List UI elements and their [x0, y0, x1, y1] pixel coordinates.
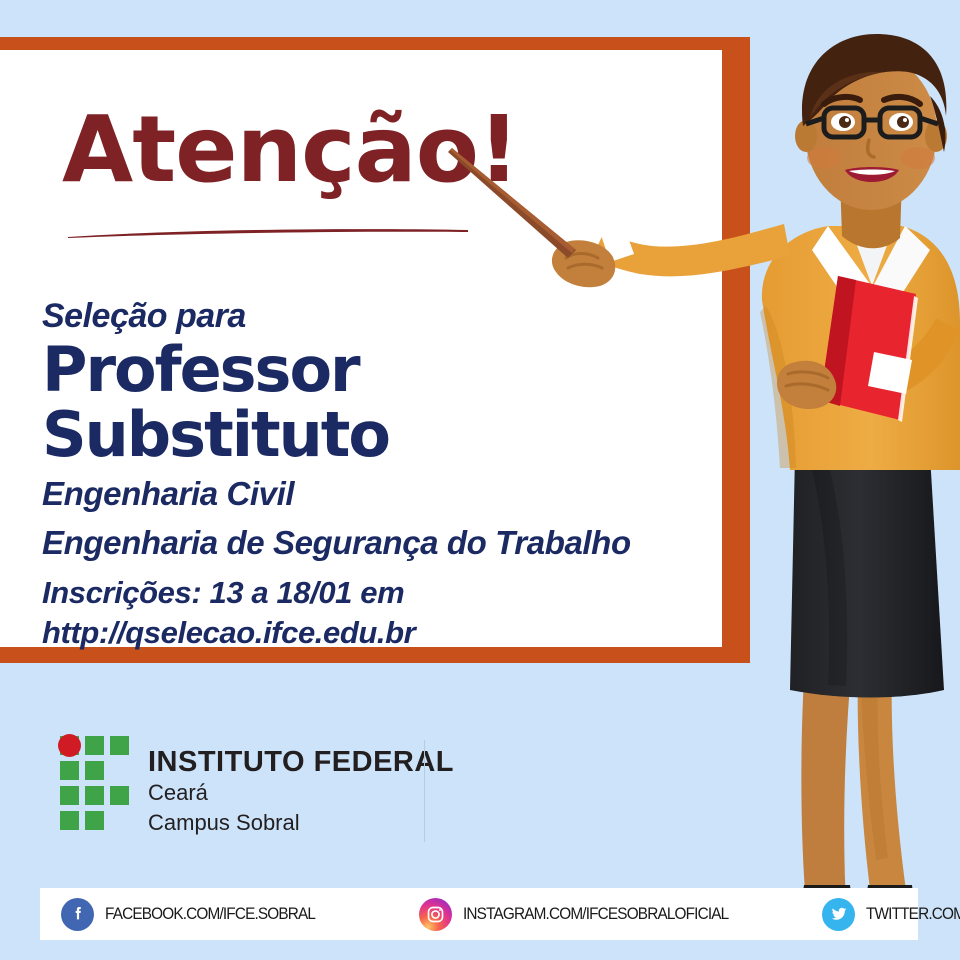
- logo-campus-name: Campus Sobral: [148, 810, 454, 837]
- position-title: Professor Substituto: [42, 337, 722, 467]
- social-label-facebook: FACEBOOK.COM/IFCE.SOBRAL: [105, 905, 315, 924]
- facebook-icon[interactable]: [61, 898, 94, 931]
- social-item-facebook[interactable]: FACEBOOK.COM/IFCE.SOBRAL: [61, 898, 331, 931]
- swoosh-rule-icon: [68, 228, 468, 238]
- poster-canvas: Atenção! Seleção para Professor Substitu…: [0, 0, 960, 960]
- course-item-1: Engenharia Civil: [42, 473, 722, 516]
- social-label-instagram: INSTAGRAM.COM/IFCESOBRALOFICIAL: [463, 905, 728, 924]
- announcement-text: Seleção para Professor Substituto Engenh…: [42, 298, 722, 653]
- registration-info: Inscrições: 13 a 18/01 em http://qseleca…: [42, 573, 722, 654]
- twitter-icon[interactable]: [822, 898, 855, 931]
- social-label-twitter: TWITTER.COM/IFCE_: [866, 905, 960, 924]
- social-item-instagram[interactable]: INSTAGRAM.COM/IFCESOBRALOFICIAL: [419, 898, 748, 931]
- logo-divider: [424, 740, 425, 842]
- ifce-logo-mark-icon: [60, 736, 130, 836]
- logo-state-name: Ceará: [148, 780, 454, 807]
- eyebrow-text: Seleção para: [42, 298, 722, 335]
- social-item-twitter[interactable]: TWITTER.COM/IFCE_: [822, 898, 960, 931]
- ifce-logo: INSTITUTO FEDERAL Ceará Campus Sobral: [60, 736, 454, 837]
- course-item-2: Engenharia de Segurança do Trabalho: [42, 522, 722, 565]
- page-title: Atenção!: [62, 104, 519, 196]
- instagram-icon[interactable]: [419, 898, 452, 931]
- social-footer-bar: FACEBOOK.COM/IFCE.SOBRAL INSTAGRAM.COM/I…: [40, 888, 918, 940]
- logo-institution-name: INSTITUTO FEDERAL: [148, 748, 454, 777]
